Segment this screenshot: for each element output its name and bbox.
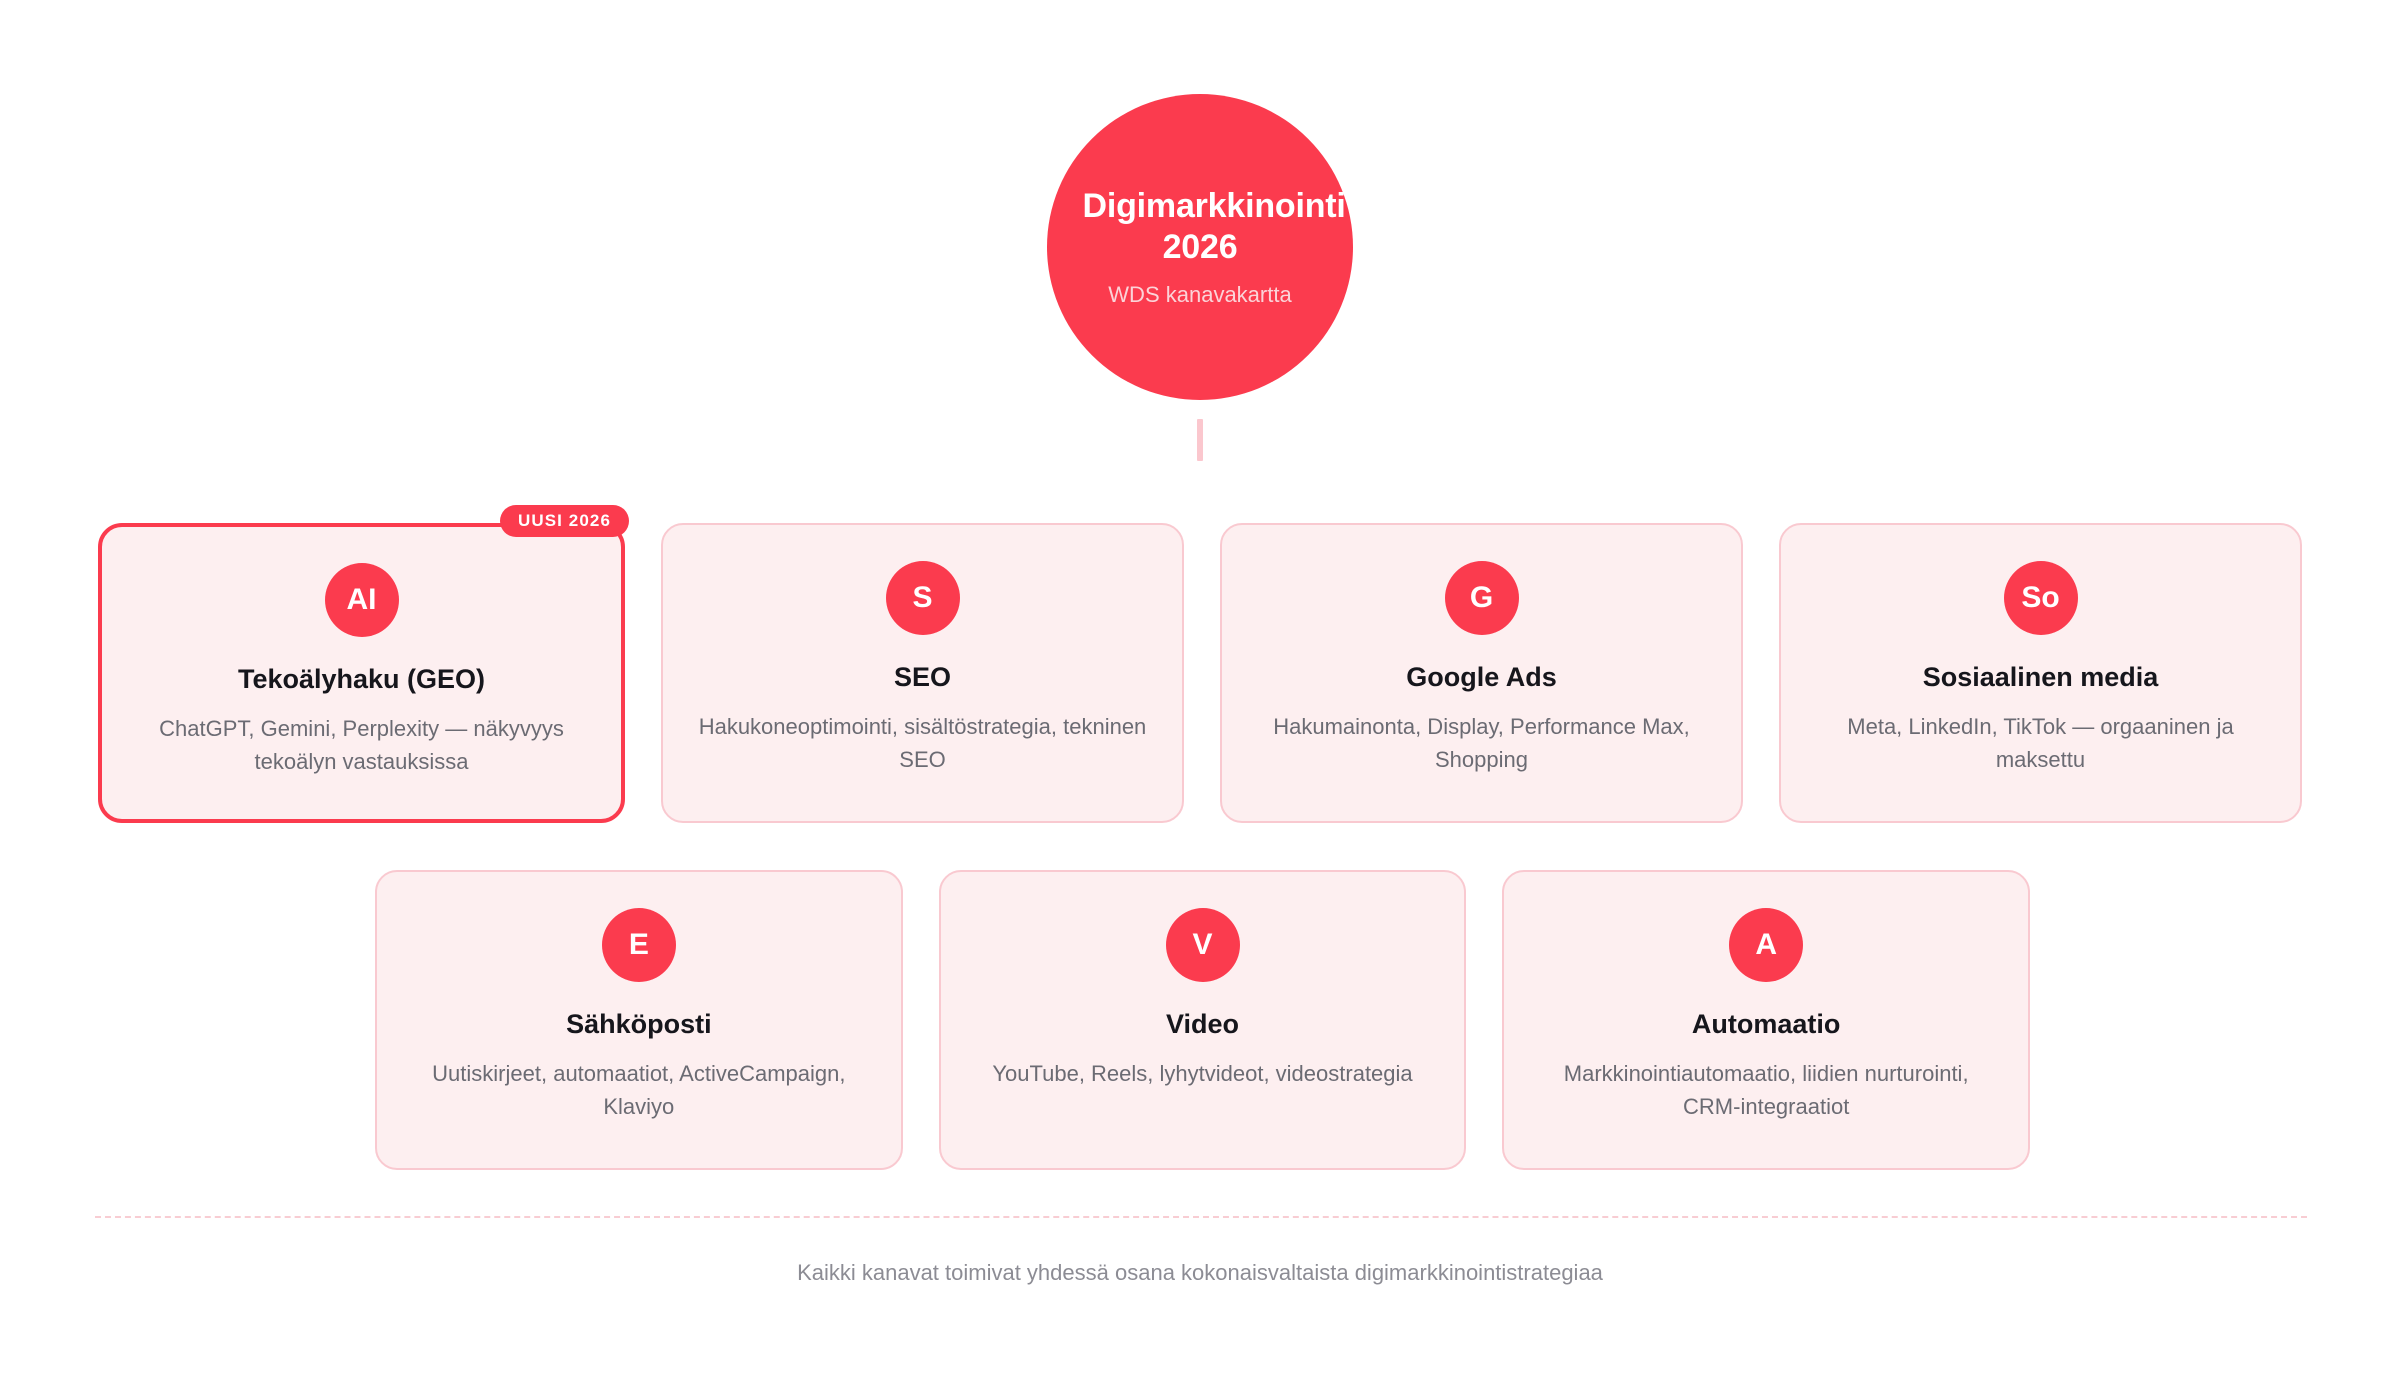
channel-initial-icon: AI (325, 563, 399, 637)
channel-card-title: SEO (894, 661, 951, 693)
channel-card-title: Sosiaalinen media (1923, 661, 2159, 693)
new-badge: UUSI 2026 (500, 505, 629, 537)
channel-card-title: Sähköposti (566, 1008, 712, 1040)
channel-card-description: Hakumainonta, Display, Performance Max, … (1252, 711, 1711, 776)
channel-card[interactable]: SSEOHakukoneoptimointi, sisältöstrategia… (661, 523, 1184, 823)
channel-card[interactable]: SoSosiaalinen mediaMeta, LinkedIn, TikTo… (1779, 523, 2302, 823)
channel-initial-icon: G (1445, 561, 1519, 635)
channel-initial-icon: V (1166, 908, 1240, 982)
channel-card-title: Google Ads (1406, 661, 1557, 693)
channel-initial-icon: A (1729, 908, 1803, 982)
channel-card-description: ChatGPT, Gemini, Perplexity — näkyvyys t… (132, 713, 591, 778)
channel-initial-icon: S (886, 561, 960, 635)
channel-card-description: YouTube, Reels, lyhytvideot, videostrate… (992, 1058, 1412, 1091)
hub-connector-line (1197, 419, 1203, 461)
channel-card-description: Hakukoneoptimointi, sisältöstrategia, te… (693, 711, 1152, 776)
channel-initial-icon: E (602, 908, 676, 982)
hub-section: Digimarkkinointi 2026 WDS kanavakartta (0, 94, 2400, 461)
hub-title: Digimarkkinointi 2026 (1083, 186, 1318, 269)
channel-card[interactable]: AAutomaatioMarkkinointiautomaatio, liidi… (1502, 870, 2030, 1170)
footer-divider (95, 1216, 2307, 1218)
channel-card[interactable]: GGoogle AdsHakumainonta, Display, Perfor… (1220, 523, 1743, 823)
channel-card-description: Meta, LinkedIn, TikTok — orgaaninen ja m… (1811, 711, 2270, 776)
channel-row-2: ESähköpostiUutiskirjeet, automaatiot, Ac… (375, 870, 2030, 1170)
channel-card-title: Tekoälyhaku (GEO) (238, 663, 485, 695)
channel-card[interactable]: UUSI 2026AITekoälyhaku (GEO)ChatGPT, Gem… (98, 523, 625, 823)
footer-note: Kaikki kanavat toimivat yhdessä osana ko… (0, 1258, 2400, 1289)
channel-card-description: Markkinointiautomaatio, liidien nurturoi… (1534, 1058, 1998, 1123)
channel-card-title: Video (1166, 1008, 1239, 1040)
channel-card-description: Uutiskirjeet, automaatiot, ActiveCampaig… (407, 1058, 871, 1123)
hub-circle[interactable]: Digimarkkinointi 2026 WDS kanavakartta (1047, 94, 1353, 400)
channel-card[interactable]: VVideoYouTube, Reels, lyhytvideot, video… (939, 870, 1467, 1170)
hub-subtitle: WDS kanavakartta (1108, 282, 1291, 308)
channel-map-diagram: Digimarkkinointi 2026 WDS kanavakartta U… (0, 0, 2400, 1374)
channel-row-1: UUSI 2026AITekoälyhaku (GEO)ChatGPT, Gem… (98, 523, 2302, 823)
channel-card[interactable]: ESähköpostiUutiskirjeet, automaatiot, Ac… (375, 870, 903, 1170)
channel-initial-icon: So (2004, 561, 2078, 635)
channel-card-title: Automaatio (1692, 1008, 1841, 1040)
